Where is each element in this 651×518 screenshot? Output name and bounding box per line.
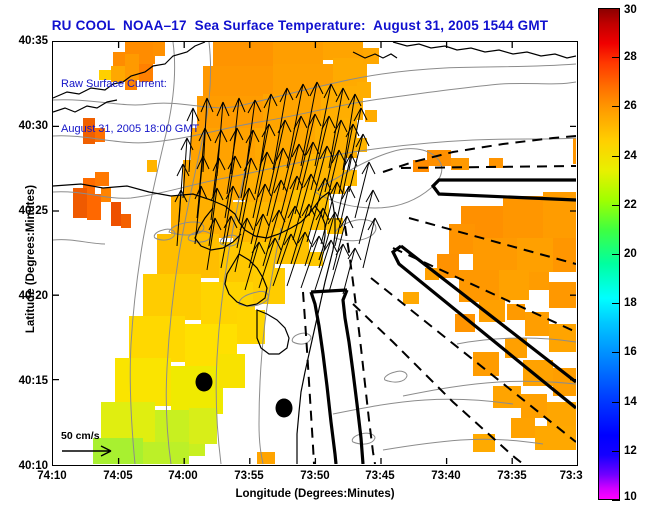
xtick-4: 73:50 [300,470,329,482]
cbar-tick-28: 28 [624,51,637,63]
cbar-tick-20: 20 [624,248,637,260]
y-axis-label: Latitude (Degrees:Minutes) [25,139,37,379]
map-plot-area[interactable]: Raw Surface Current: August 31, 2005 18:… [52,41,578,466]
xtick-7: 73:35 [497,470,526,482]
station-marker-west[interactable] [196,373,213,392]
cbar-tick-12: 12 [624,445,637,457]
xtick-6: 73:40 [431,470,460,482]
ytick-0: 40:35 [19,35,48,47]
xtick-8: 73:3 [560,470,583,482]
ytick-1: 40:30 [19,120,48,132]
x-axis-label: Longitude (Degrees:Minutes) [52,488,578,500]
station-marker-east[interactable] [276,399,293,418]
xtick-1: 74:05 [103,470,132,482]
cbar-tick-14: 14 [624,396,637,408]
current-annotation-line2: August 31, 2005 18:00 GMT [61,122,199,137]
cbar-tick-30: 30 [624,4,637,16]
current-annotation-line1: Raw Surface Current: [61,77,199,92]
cbar-tick-16: 16 [624,346,637,358]
cbar-tick-10: 10 [624,491,637,503]
vector-scale-arrow-icon [61,444,121,458]
xtick-3: 73:55 [234,470,263,482]
sst-map-figure: RU COOL NOAA–17 Sea Surface Temperature:… [0,0,651,518]
cbar-tick-18: 18 [624,297,637,309]
xtick-2: 74:00 [168,470,197,482]
cbar-tick-24: 24 [624,150,637,162]
current-annotation: Raw Surface Current: August 31, 2005 18:… [61,47,199,167]
cbar-tick-26: 26 [624,100,637,112]
vector-scale-label: 50 cm/s [61,430,121,442]
cbar-tick-22: 22 [624,199,637,211]
xtick-5: 73:45 [365,470,394,482]
figure-title: RU COOL NOAA–17 Sea Surface Temperature:… [0,18,600,33]
vector-scale-legend: 50 cm/s [61,430,121,461]
ytick-5: 40:10 [19,460,48,472]
